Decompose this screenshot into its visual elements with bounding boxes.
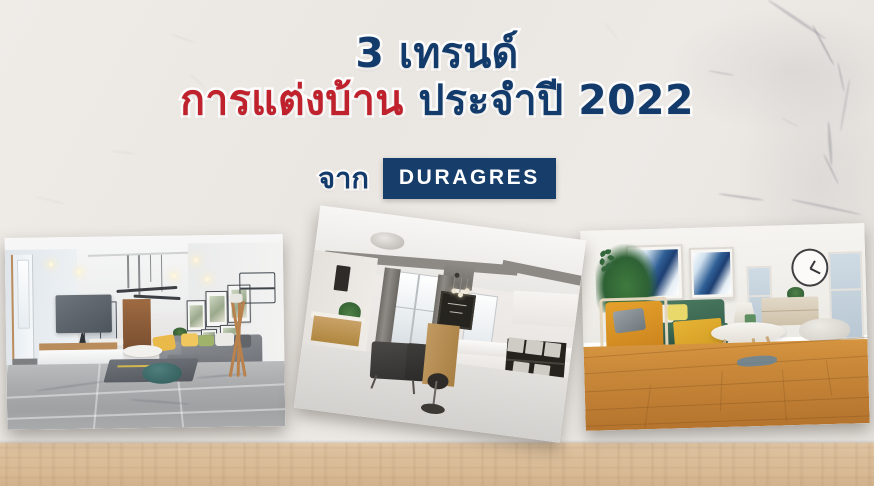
- headline-navy-segment: ประจำปี 2022: [418, 76, 694, 124]
- wood-floor-strip: [0, 443, 874, 486]
- photo-frame-open-plan[interactable]: [294, 205, 586, 442]
- brand-row: จาก DURAGRES: [0, 158, 874, 199]
- duragres-logo[interactable]: DURAGRES: [383, 158, 556, 199]
- scene-open-plan-living-kitchen: [294, 205, 586, 442]
- from-label: จาก: [318, 164, 369, 193]
- headline-block: 3 เทรนด์ การแต่งบ้าน ประจำปี 2022: [0, 32, 874, 123]
- duragres-logo-text: DURAGRES: [399, 166, 540, 189]
- scene-modern-living-room: [5, 234, 286, 430]
- photo-frame-wood-floor-room[interactable]: [580, 223, 869, 431]
- photo-frame-living-room-marble[interactable]: [5, 234, 286, 430]
- photo-inner-1: [5, 234, 286, 430]
- headline-line-1: 3 เทรนด์: [0, 32, 874, 75]
- photo-inner-2: [294, 205, 586, 442]
- promo-banner: 3 เทรนด์ การแต่งบ้าน ประจำปี 2022 จาก DU…: [0, 0, 874, 486]
- scene-wood-floor-living-room: [580, 223, 869, 431]
- headline-red-segment: การแต่งบ้าน: [180, 76, 404, 124]
- photo-inner-3: [580, 223, 869, 431]
- headline-line-2: การแต่งบ้าน ประจำปี 2022: [0, 79, 874, 122]
